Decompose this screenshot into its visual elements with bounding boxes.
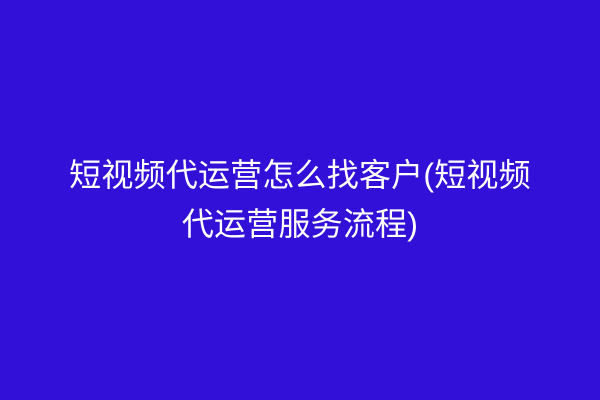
title-card-canvas: 短视频代运营怎么找客户(短视频代运营服务流程) xyxy=(0,0,600,400)
page-title: 短视频代运营怎么找客户(短视频代运营服务流程) xyxy=(54,151,546,249)
